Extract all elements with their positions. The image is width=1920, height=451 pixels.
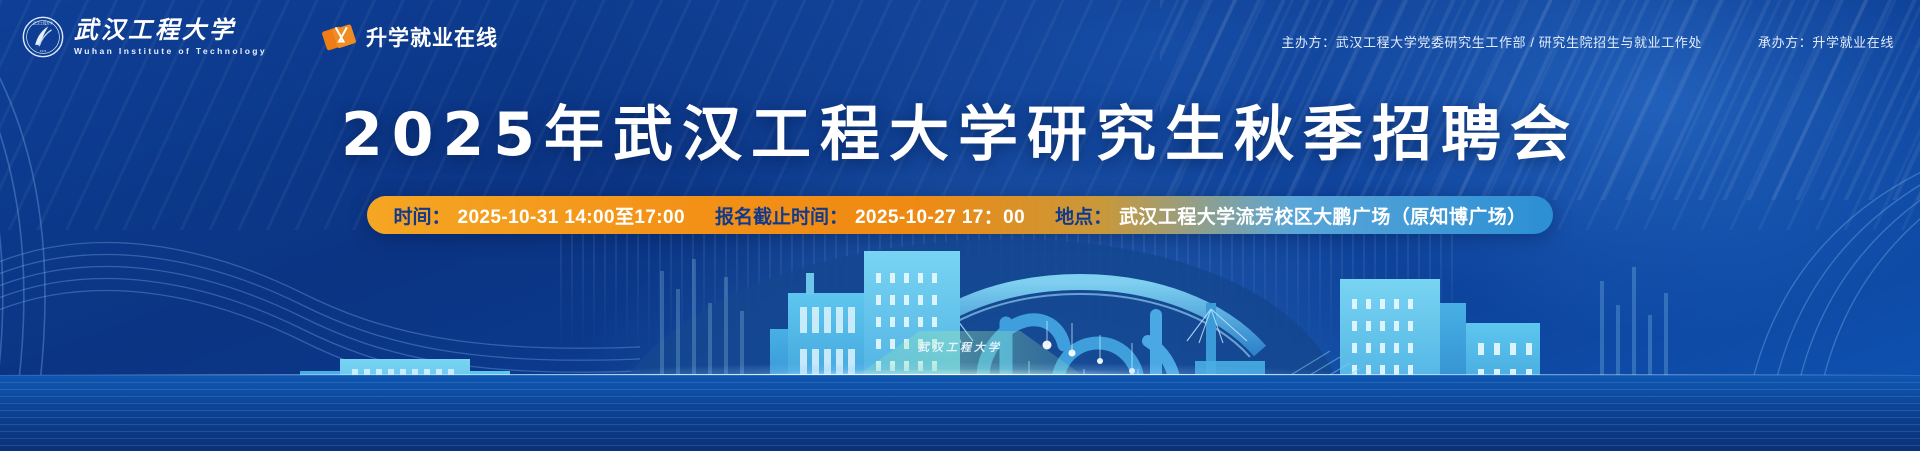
university-logo[interactable]: 武汉工程大学 1972 武汉工程大学 Wuhan Institute of Te… xyxy=(22,16,267,58)
university-seal-icon: 武汉工程大学 1972 xyxy=(22,16,64,58)
svg-text:1972: 1972 xyxy=(40,49,47,53)
university-name-cn: 武汉工程大学 xyxy=(74,19,267,43)
partner-name: 升学就业在线 xyxy=(366,22,498,52)
host-text: 主办方：武汉工程大学党委研究生工作部 / 研究生院招生与就业工作处 xyxy=(1281,32,1702,51)
co-host-text: 承办方：升学就业在线 xyxy=(1758,32,1894,51)
svg-text:武汉工程大学: 武汉工程大学 xyxy=(33,21,53,26)
gate-monument-label: 武汉工程大学 xyxy=(918,339,1002,355)
logo-group: 武汉工程大学 1972 武汉工程大学 Wuhan Institute of Te… xyxy=(22,16,498,58)
banner-header: 武汉工程大学 1972 武汉工程大学 Wuhan Institute of Te… xyxy=(0,0,1920,72)
partner-logo[interactable]: 升学就业在线 xyxy=(321,19,498,55)
university-name-en: Wuhan Institute of Technology xyxy=(74,47,267,56)
cityscape-illustration: 武汉工程大学 xyxy=(0,211,1920,451)
recruitment-banner: 武汉工程大学 1972 武汉工程大学 Wuhan Institute of Te… xyxy=(0,0,1920,451)
organizer-line: 主办方：武汉工程大学党委研究生工作部 / 研究生院招生与就业工作处 承办方：升学… xyxy=(1281,32,1894,51)
page-title: 2025年武汉工程大学研究生秋季招聘会 xyxy=(0,86,1920,173)
university-name-block: 武汉工程大学 Wuhan Institute of Technology xyxy=(74,19,267,56)
sxjy-diamond-icon xyxy=(321,19,357,55)
ground-line-texture xyxy=(0,375,1920,451)
